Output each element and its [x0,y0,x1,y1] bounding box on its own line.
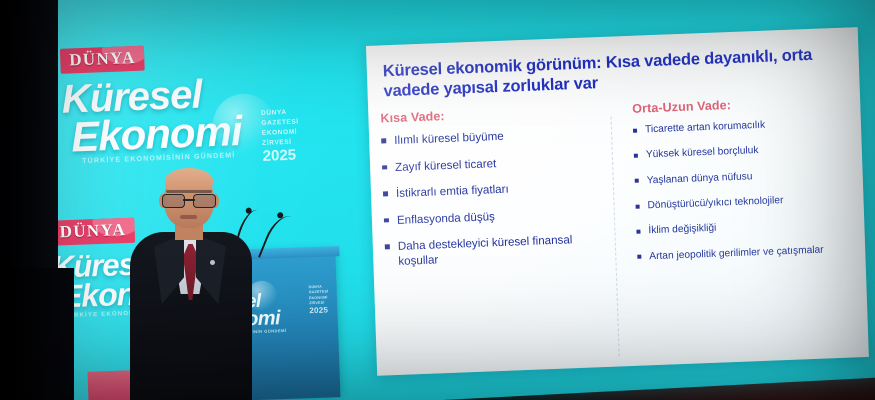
speaker-person [128,168,254,400]
stage-left-pillar-lower [0,268,74,400]
medium-long-term-heading: Orta-Uzun Vade: [632,93,852,115]
dunya-logo-badge: DÜNYA [60,46,145,74]
dunya-logo-badge-secondary: DÜNYA [50,218,135,246]
list-item: Daha destekleyici küresel finansal koşul… [383,232,606,270]
slide-title: Küresel ekonomik görünüm: Kısa vadede da… [383,44,844,103]
speaker-mouth [180,215,197,219]
list-item: Dönüştürücü/yıkıcı teknolojiler [633,192,855,213]
eyeglasses-lens-right [193,194,216,208]
eyeglasses-icon [162,194,216,207]
slide-content: Küresel ekonomik görünüm: Kısa vadede da… [366,27,869,376]
speaker-brow [166,190,212,193]
presentation-slide: Küresel ekonomik görünüm: Kısa vadede da… [366,27,869,376]
list-item: Yaşlanan dünya nüfusu [633,167,855,188]
eyeglasses-lens-left [162,194,185,208]
screenshot-stage: DÜNYA Küresel Ekonomi TÜRKİYE EKONOMİSİN… [0,0,875,400]
podium-summit-year: 2025 [309,306,331,316]
list-item: İklim değişikliği [634,218,856,239]
speaker-lapel-pin [210,260,215,265]
list-item: İstikrarlı emtia fiyatları [381,179,603,202]
event-summit-caption: DÜNYA GAZETESİ EKONOMİ ZİRVESİ 2025 [261,107,309,165]
short-term-column: Kısa Vade: Ilımlı küresel büyüme Zayıf k… [378,103,619,370]
short-term-bullet-list: Ilımlı küresel büyüme Zayıf küresel tica… [379,126,605,270]
list-item: Ticarette artan korumacılık [631,116,853,137]
podium-summit-caption: DÜNYA GAZETESİ EKONOMİ ZİRVESİ 2025 [309,284,332,315]
list-item: Zayıf küresel ticaret [380,153,602,176]
summit-year: 2025 [262,147,309,165]
medium-long-term-bullet-list: Ticarette artan korumacılık Yüksek küres… [631,116,858,264]
list-item: Ilımlı küresel büyüme [379,126,601,149]
list-item: Artan jeopolitik gerilimler ve çatışmala… [635,243,857,264]
dunya-logo-text-secondary: DÜNYA [59,220,126,241]
list-item: Enflasyonda düşüş [382,206,604,229]
slide-columns: Kısa Vade: Ilımlı küresel büyüme Zayıf k… [378,93,860,369]
short-term-heading: Kısa Vade: [380,103,600,125]
dunya-logo-text: DÜNYA [69,48,136,70]
medium-long-term-column: Orta-Uzun Vade: Ticarette artan korumacı… [610,93,861,360]
list-item: Yüksek küresel borçluluk [632,142,854,163]
